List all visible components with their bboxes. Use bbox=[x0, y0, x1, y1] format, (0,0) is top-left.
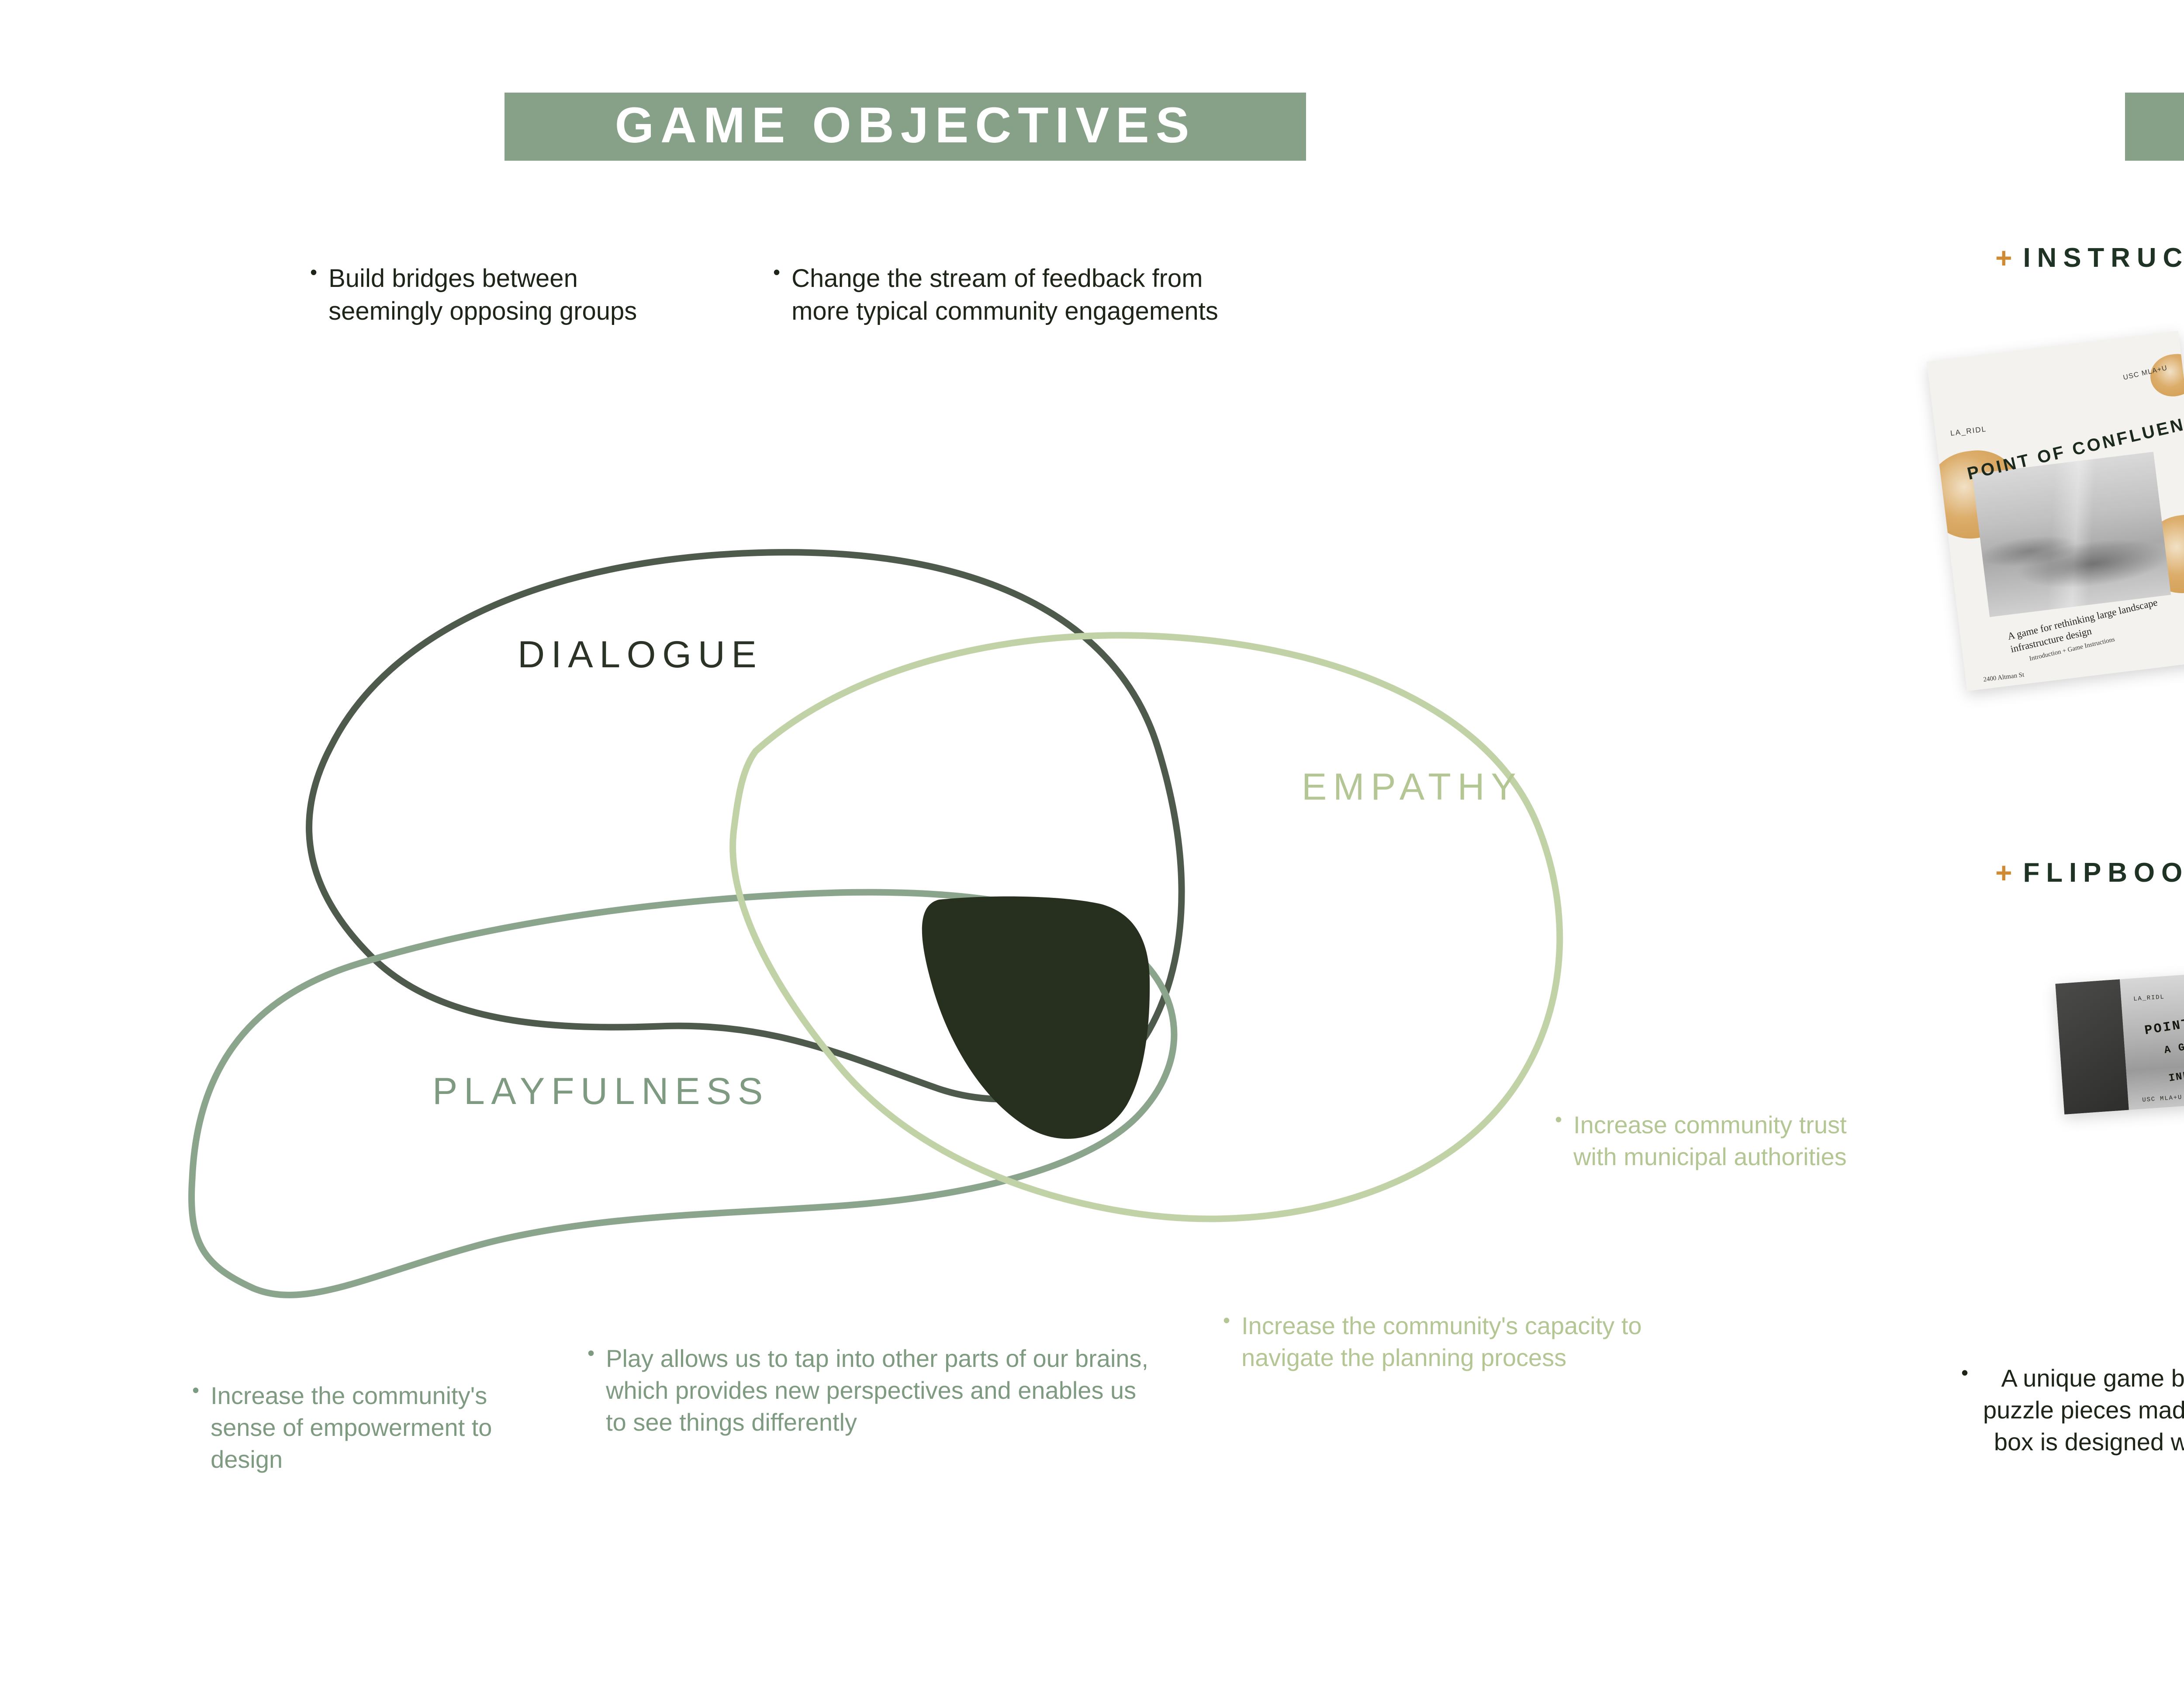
venn-label-empathy: EMPATHY bbox=[1302, 766, 1522, 809]
tool-bullet-game-box: • A unique game board for the Frogtown r… bbox=[1961, 1363, 2184, 1490]
flipbook-card-photo: LA_RIDL 2023 POINT OF CONFLUENCE A GAME … bbox=[2055, 964, 2184, 1114]
venn-shape-empathy bbox=[733, 635, 1560, 1219]
objective-bullet-text: Change the stream of feedback from more … bbox=[791, 262, 1219, 328]
bullet-dot: • bbox=[1961, 1363, 1968, 1383]
venn-svg bbox=[166, 463, 1826, 1358]
objective-bullet-text: Increase the community's capacity to nav… bbox=[1241, 1310, 1664, 1374]
section-heading-label: FLIPBOOK bbox=[2023, 857, 2184, 888]
objective-bullet: • Increase the community's sense of empo… bbox=[192, 1380, 542, 1475]
plus-icon: + bbox=[1995, 856, 2018, 889]
objective-bullet-text: Increase the community's sense of empowe… bbox=[211, 1380, 542, 1475]
plus-icon: + bbox=[1995, 241, 2018, 274]
venn-shape-dialogue bbox=[309, 552, 1182, 1100]
venn-shape-playfulness bbox=[192, 892, 1174, 1295]
section-heading-instruction-manual: + INSTRUCTION MANUAL bbox=[1995, 241, 2184, 274]
venn-overlap-fill bbox=[922, 897, 1150, 1139]
objective-bullet-text: Play allows us to tap into other parts o… bbox=[606, 1343, 1151, 1438]
venn-label-dialogue: DIALOGUE bbox=[518, 633, 763, 676]
objective-bullet: • Build bridges between seemingly opposi… bbox=[310, 262, 668, 328]
objective-bullet: • Change the stream of feedback from mor… bbox=[773, 262, 1219, 328]
objective-bullet-text: Build bridges between seemingly opposing… bbox=[328, 262, 668, 328]
section-heading-flipbook: + FLIPBOOK bbox=[1995, 856, 2184, 889]
section-banner-game-objectives: GAME OBJECTIVES bbox=[505, 93, 1306, 161]
section-banner-engagement-tools: ENGAGEMENT TOOLS bbox=[2125, 93, 2184, 161]
manual-cover-address: 2400 Altman St bbox=[1983, 671, 2025, 683]
bullet-dot: • bbox=[1223, 1310, 1230, 1330]
manual-cover-photo: LA_RIDL USC MLA+U POINT OF CONFLUENCE A … bbox=[1927, 331, 2184, 691]
bullet-dot: • bbox=[773, 262, 780, 282]
objective-bullet: • Increase community trust with municipa… bbox=[1555, 1109, 1887, 1173]
manual-cover-brand: LA_RIDL bbox=[1950, 425, 1987, 438]
bullet-dot: • bbox=[192, 1380, 199, 1400]
bullet-dot: • bbox=[587, 1343, 594, 1363]
objective-bullet: • Play allows us to tap into other parts… bbox=[587, 1343, 1151, 1438]
flipbook-spine bbox=[2055, 979, 2129, 1114]
section-heading-label: INSTRUCTION MANUAL bbox=[2023, 242, 2184, 273]
objective-bullet-text: Increase community trust with municipal … bbox=[1573, 1109, 1887, 1173]
venn-diagram bbox=[166, 463, 1826, 1358]
venn-label-playfulness: PLAYFULNESS bbox=[432, 1070, 769, 1113]
bullet-dot: • bbox=[310, 262, 317, 282]
objective-bullet: • Increase the community's capacity to n… bbox=[1223, 1310, 1664, 1374]
tool-bullet-text: A unique game board for the Frogtown reg… bbox=[1980, 1363, 2184, 1490]
bullet-dot: • bbox=[1555, 1109, 1562, 1129]
